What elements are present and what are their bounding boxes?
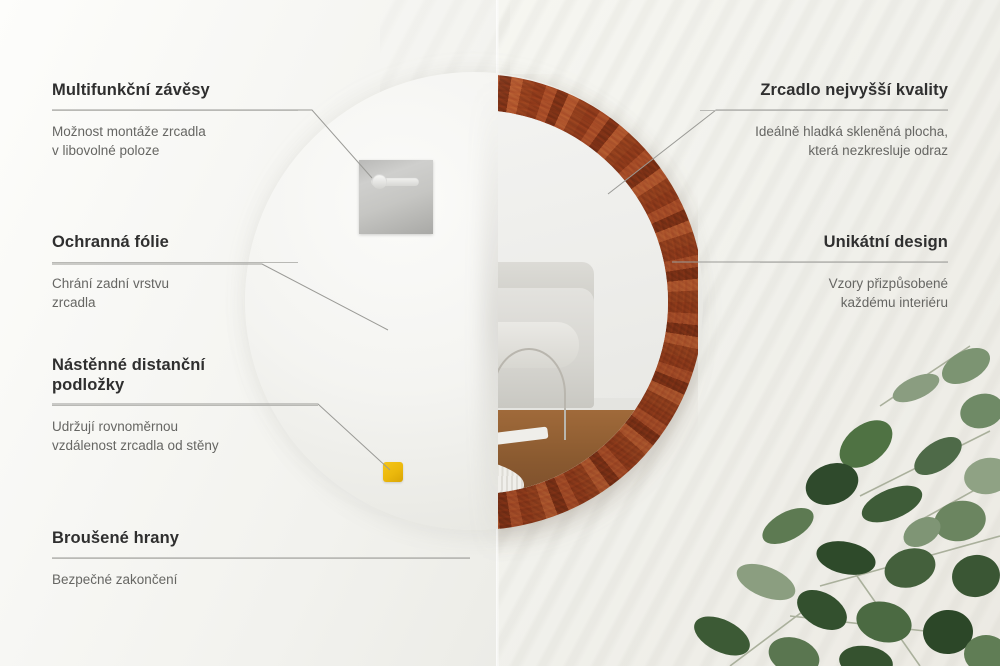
callout-rule	[760, 262, 948, 263]
callout-body-line-1: Chrání zadní vrstvu	[52, 274, 298, 293]
callout-rule	[52, 262, 298, 263]
mirror-frame	[498, 74, 698, 530]
callout-unique-design: Unikátní design Vzory přizpůsobené každé…	[760, 232, 948, 312]
callout-body-line-1: Možnost montáže zrcadla	[52, 122, 298, 141]
leaves-icon	[670, 336, 1000, 666]
callout-polished-edges: Broušené hrany Bezpečné zakončení	[52, 528, 470, 589]
callout-rule	[700, 110, 948, 111]
callout-body-line-2: která nezkresluje odraz	[700, 141, 948, 160]
callout-rule	[52, 405, 318, 406]
foliage-decoration	[670, 336, 1000, 666]
callout-body-line-1: Ideálně hladká skleněná plocha,	[700, 122, 948, 141]
callout-title-line-2: podložky	[52, 376, 124, 394]
product-infographic: Multifunkční závěsy Možnost montáže zrca…	[0, 0, 1000, 666]
callout-body-line-2: v libovolné poloze	[52, 141, 298, 160]
callout-body-line-1: Vzory přizpůsobené	[760, 274, 948, 293]
framed-mirror-clip	[498, 74, 698, 564]
callout-highest-quality-mirror: Zrcadlo nejvyšší kvality Ideálně hladká …	[700, 80, 948, 160]
wall-spacer-pad	[383, 462, 403, 482]
callout-title: Unikátní design	[760, 232, 948, 252]
hanger-keyhole-slot	[371, 177, 419, 186]
callout-wall-spacers: Nástěnné distanční podložky Udržují rovn…	[52, 355, 318, 456]
callout-title: Multifunkční závěsy	[52, 80, 298, 100]
mirror-glass	[498, 110, 668, 494]
callout-rule	[52, 110, 298, 111]
callout-title: Ochranná fólie	[52, 232, 298, 252]
callout-title-line-1: Nástěnné distanční	[52, 356, 205, 374]
hanger-plate-icon	[359, 160, 433, 234]
callout-body-line-2: každému interiéru	[760, 293, 948, 312]
callout-body-line-2: vzdálenost zrcadla od stěny	[52, 436, 318, 455]
callout-protective-foil: Ochranná fólie Chrání zadní vrstvu zrcad…	[52, 232, 298, 312]
reflection-floor-lamp	[498, 348, 566, 440]
callout-title: Nástěnné distanční podložky	[52, 355, 318, 395]
callout-title: Broušené hrany	[52, 528, 470, 548]
callout-title: Zrcadlo nejvyšší kvality	[700, 80, 948, 100]
callout-body-line-1: Udržují rovnoměrnou	[52, 417, 318, 436]
callout-body-line-2: zrcadla	[52, 293, 298, 312]
callout-multifunction-hangers: Multifunkční závěsy Možnost montáže zrca…	[52, 80, 298, 160]
callout-rule	[52, 558, 470, 559]
callout-body-line-1: Bezpečné zakončení	[52, 570, 470, 589]
